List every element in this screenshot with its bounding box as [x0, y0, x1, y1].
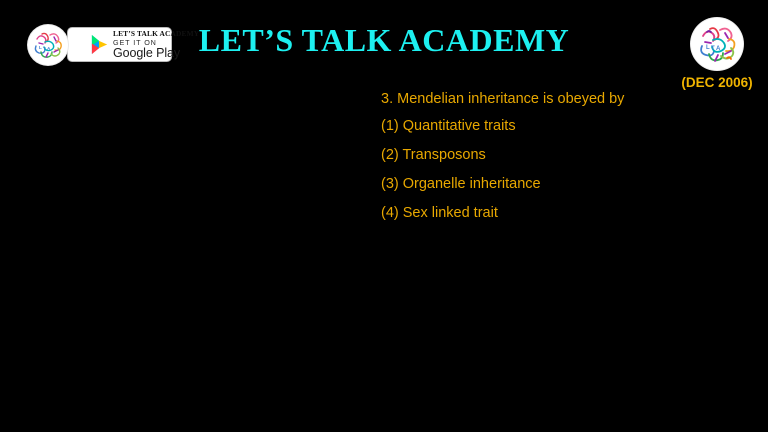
exam-date-label: (DEC 2006) [655, 75, 768, 90]
google-play-badge[interactable]: LET’S TALK ACADEMY GET IT ON Google Play [67, 27, 172, 62]
svg-text:L: L [706, 45, 710, 51]
svg-text:T: T [711, 46, 715, 52]
play-badge-text: LET’S TALK ACADEMY GET IT ON Google Play [113, 30, 199, 59]
option-1[interactable]: (1) Quantitative traits [381, 119, 741, 134]
option-4[interactable]: (4) Sex linked trait [381, 206, 741, 221]
svg-text:T: T [43, 46, 46, 51]
scribble-circle-logo-icon: L T A [691, 18, 743, 70]
option-2[interactable]: (2) Transposons [381, 148, 741, 163]
brand-cluster[interactable]: L T A [26, 23, 176, 67]
option-3[interactable]: (3) Organelle inheritance [381, 177, 741, 192]
question-stem: 3. Mendelian inheritance is obeyed by [381, 92, 741, 107]
svg-text:L: L [39, 45, 42, 50]
play-badge-inner: LET’S TALK ACADEMY GET IT ON Google Play [68, 30, 171, 59]
svg-text:A: A [716, 46, 721, 52]
question-block: 3. Mendelian inheritance is obeyed by (1… [381, 92, 741, 235]
slide-canvas: L T A [0, 0, 768, 432]
badge-google-play-label: Google Play [113, 47, 199, 60]
google-play-triangle-icon [90, 34, 109, 55]
badge-get-it-on-label: GET IT ON [113, 39, 199, 46]
scribble-circle-logo-icon: L T A [28, 25, 68, 65]
badge-academy-label: LET’S TALK ACADEMY [113, 30, 199, 37]
